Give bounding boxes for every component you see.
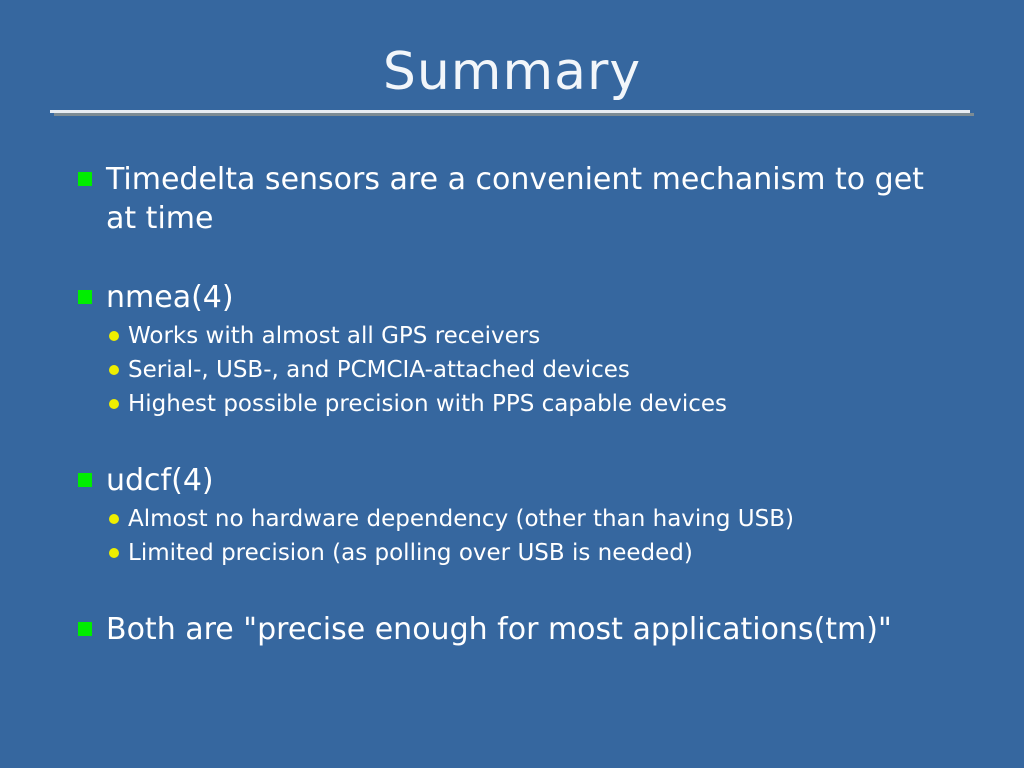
- list-item-level2: Works with almost all GPS receivers: [0, 319, 1024, 353]
- list-item-level1-label: nmea(4): [106, 278, 946, 317]
- square-bullet-icon: [78, 622, 92, 636]
- list-item-level2-label: Highest possible precision with PPS capa…: [128, 387, 958, 421]
- list-item-level2: Almost no hardware dependency (other tha…: [0, 502, 1024, 536]
- page-title: Summary: [0, 42, 1024, 102]
- list-item-level1: Both are "precise enough for most applic…: [0, 610, 1024, 649]
- list-item-level2-label: Works with almost all GPS receivers: [128, 319, 958, 353]
- sub-list: Almost no hardware dependency (other tha…: [0, 502, 1024, 570]
- list-item-level1-label: Timedelta sensors are a convenient mecha…: [106, 160, 946, 238]
- presentation-slide: Summary Timedelta sensors are a convenie…: [0, 0, 1024, 768]
- bullet-block: udcf(4) Almost no hardware dependency (o…: [0, 461, 1024, 570]
- list-item-level1-label: udcf(4): [106, 461, 946, 500]
- block-spacer: [0, 570, 1024, 610]
- bullet-block: nmea(4) Works with almost all GPS receiv…: [0, 278, 1024, 421]
- dot-bullet-icon: [109, 331, 119, 341]
- sub-list: Works with almost all GPS receivers Seri…: [0, 319, 1024, 421]
- bullet-block: Timedelta sensors are a convenient mecha…: [0, 160, 1024, 238]
- slide-title-area: Summary: [0, 42, 1024, 102]
- block-spacer: [0, 238, 1024, 278]
- dot-bullet-icon: [109, 514, 119, 524]
- dot-bullet-icon: [109, 365, 119, 375]
- list-item-level2-label: Serial-, USB-, and PCMCIA-attached devic…: [128, 353, 958, 387]
- list-item-level2: Serial-, USB-, and PCMCIA-attached devic…: [0, 353, 1024, 387]
- title-divider: [50, 110, 970, 116]
- list-item-level1: nmea(4): [0, 278, 1024, 317]
- square-bullet-icon: [78, 172, 92, 186]
- divider-shadow-line: [54, 113, 974, 116]
- block-spacer: [0, 421, 1024, 461]
- slide-body: Timedelta sensors are a convenient mecha…: [0, 160, 1024, 649]
- bullet-block: Both are "precise enough for most applic…: [0, 610, 1024, 649]
- list-item-level2: Highest possible precision with PPS capa…: [0, 387, 1024, 421]
- square-bullet-icon: [78, 473, 92, 487]
- list-item-level1-label: Both are "precise enough for most applic…: [106, 610, 946, 649]
- list-item-level1: udcf(4): [0, 461, 1024, 500]
- list-item-level2-label: Limited precision (as polling over USB i…: [128, 536, 958, 570]
- list-item-level2-label: Almost no hardware dependency (other tha…: [128, 502, 958, 536]
- dot-bullet-icon: [109, 399, 119, 409]
- square-bullet-icon: [78, 290, 92, 304]
- list-item-level1: Timedelta sensors are a convenient mecha…: [0, 160, 1024, 238]
- dot-bullet-icon: [109, 548, 119, 558]
- list-item-level2: Limited precision (as polling over USB i…: [0, 536, 1024, 570]
